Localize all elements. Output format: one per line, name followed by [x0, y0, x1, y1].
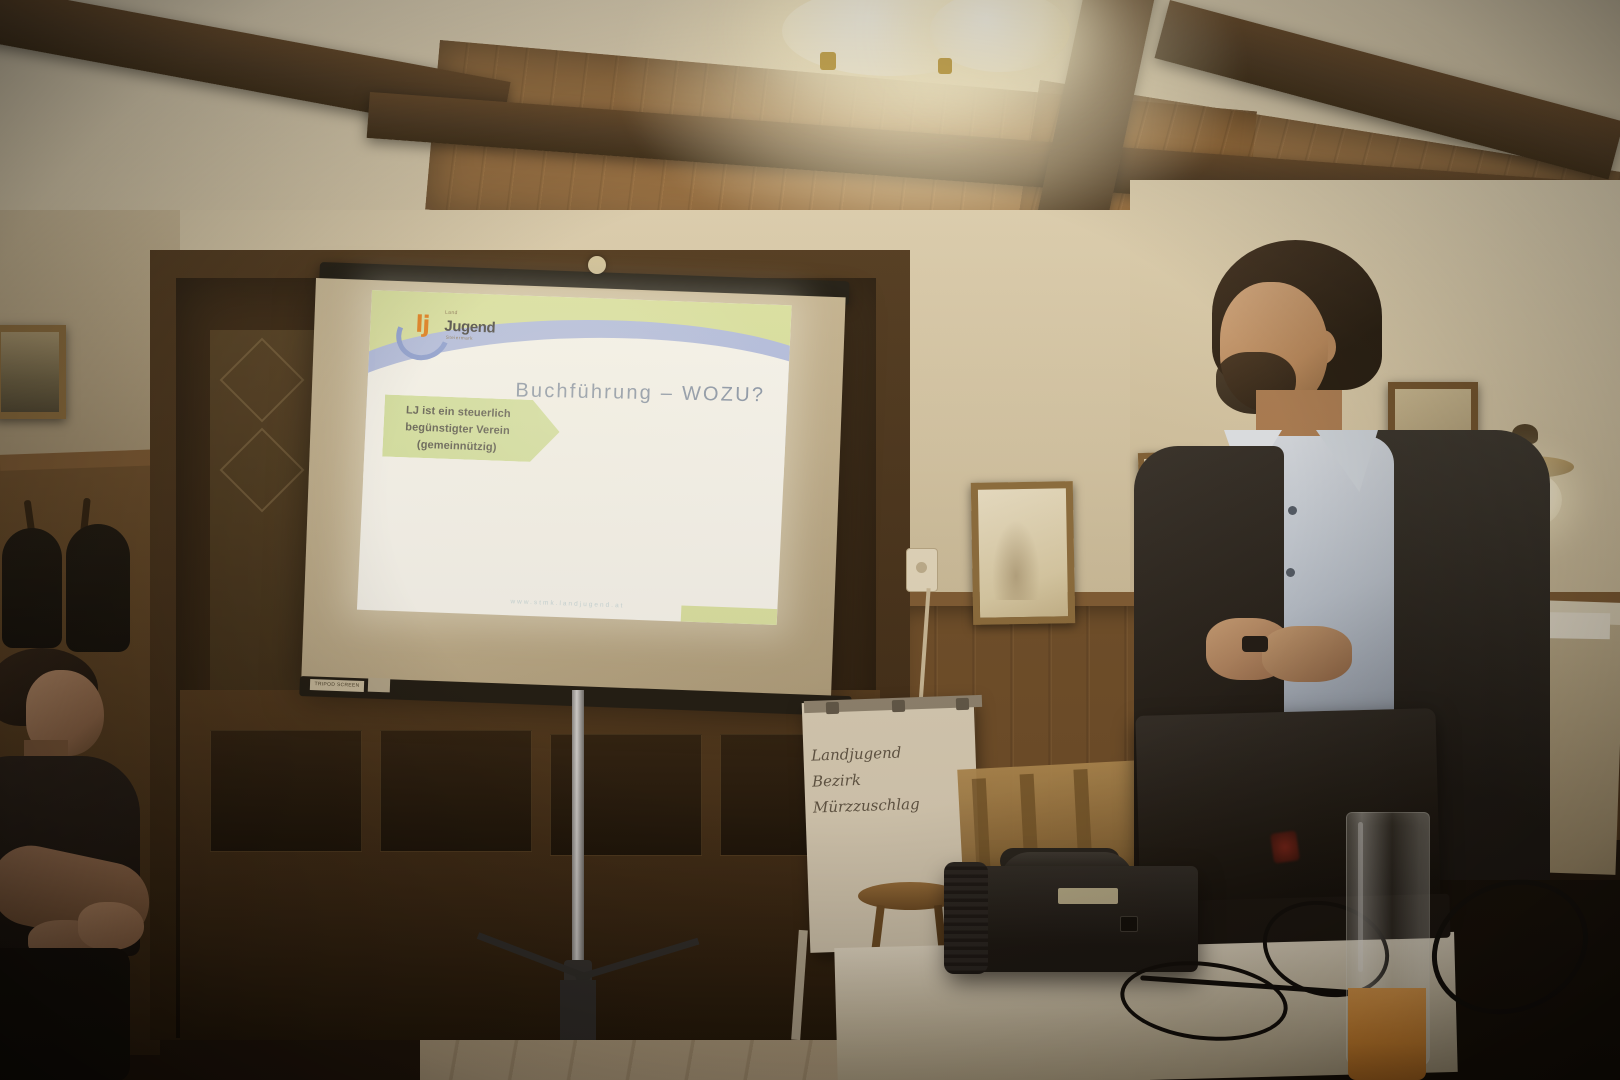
logo-region-word: Steiermark [446, 335, 473, 341]
projector-lens-icon [944, 862, 988, 974]
presenter-hand-right [1262, 626, 1352, 682]
photo-scene: lj Land Jugend Steiermark Buchführung – … [0, 0, 1620, 1080]
screen-tab-handle[interactable] [368, 678, 390, 693]
shirt-button-1 [1288, 506, 1297, 515]
presentation-clicker[interactable] [1242, 636, 1268, 652]
flipchart-clip-1[interactable] [826, 702, 839, 714]
laptop-brand-logo-icon [1270, 830, 1300, 863]
flipchart-clip-2[interactable] [892, 700, 905, 712]
projector-port[interactable] [1120, 916, 1138, 932]
wooden-cabinet [180, 690, 880, 1040]
logo-main-word: Jugend [444, 318, 496, 337]
listener-legs [0, 948, 130, 1080]
logo-top-word: Land [445, 310, 458, 316]
flipchart-writing: Landjugend Bezirk Mürzzuschlag [811, 737, 964, 820]
door-diamond-1 [220, 338, 305, 423]
flipchart-clip-3[interactable] [956, 698, 969, 710]
slide-callout-arrow: LJ ist ein steuerlich begünstigter Verei… [382, 395, 561, 463]
chair-slat-1 [972, 778, 991, 869]
shirt-button-2 [1286, 568, 1295, 577]
picture-sketch-center [992, 520, 1040, 600]
orange-juice-liquid [1348, 988, 1426, 1080]
screen-brand-label: TRIPOD SCREEN [310, 679, 364, 692]
screen-tripod-leg-center [560, 980, 596, 1040]
screen-tripod-pole [572, 690, 584, 990]
hanging-jacket-2 [66, 524, 130, 652]
projected-slide: lj Land Jugend Steiermark Buchführung – … [357, 290, 792, 625]
ceiling-lamp-stem-2 [938, 58, 952, 74]
door-diamond-2 [220, 428, 305, 513]
flipchart-line-3: Mürzzuschlag [812, 789, 963, 820]
hanging-jacket-1 [2, 528, 62, 648]
cabinet-panel-2 [380, 730, 532, 852]
screen-mount-knob [588, 256, 606, 274]
callout-line-3: (gemeinnützig) [382, 438, 530, 455]
slide-title: Buchführung – WOZU? [515, 380, 765, 408]
framed-picture-left [0, 325, 66, 419]
landjugend-logo-icon: lj Land Jugend Steiermark [395, 305, 509, 353]
listener-hand-right [78, 902, 144, 950]
callout-line-1: LJ ist ein steuerlich [384, 404, 532, 421]
logo-lj-monogram: lj [415, 312, 430, 338]
seated-young-man [0, 648, 170, 1080]
ceiling-lamp-stem-1 [820, 52, 836, 70]
wall-socket-hole [916, 562, 927, 573]
projector-label-sticker [1058, 888, 1118, 904]
glass-highlight [1358, 822, 1363, 972]
callout-line-2: begünstigter Verein [383, 421, 531, 438]
cabinet-panel-1 [210, 730, 362, 852]
